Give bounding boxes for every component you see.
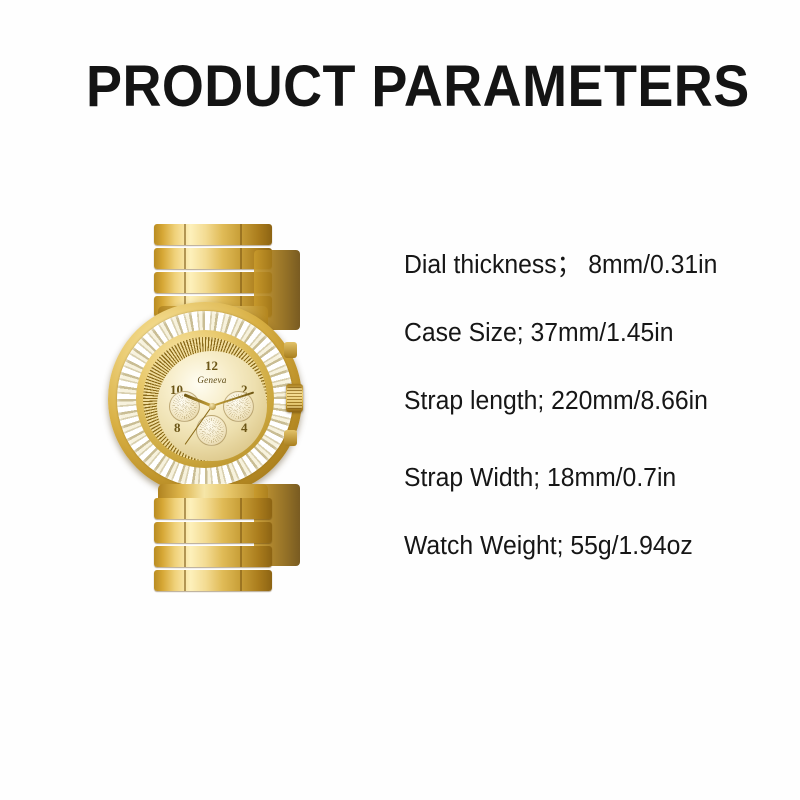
- product-parameters-page: PRODUCT PARAMETERS Geneva 12 2: [0, 0, 800, 800]
- spec-row-watch-weight: Watch Weight; 55g/1.94oz: [404, 531, 763, 561]
- watch-hand-cap: [209, 403, 216, 410]
- spec-row-case-size: Case Size; 37mm/1.45in: [404, 318, 763, 348]
- watch-chapter-ring: Geneva 12 2 4 8 10: [143, 337, 267, 461]
- watch-pusher-top: [284, 342, 297, 358]
- spec-row-dial-thickness: Dial thickness； 8mm/0.31in: [404, 250, 763, 280]
- watch-bezel-crystals: Geneva 12 2 4 8 10: [117, 311, 293, 487]
- watch-bezel-inner: Geneva 12 2 4 8 10: [136, 330, 274, 468]
- watch-case: Geneva 12 2 4 8 10: [108, 302, 302, 496]
- spec-row-strap-width: Strap Width; 18mm/0.7in: [404, 463, 763, 493]
- product-watch-image: Geneva 12 2 4 8 10: [104, 222, 316, 594]
- spec-row-strap-length: Strap length; 220mm/8.66in: [404, 386, 763, 416]
- bracelet-link: [154, 498, 272, 519]
- watch-pusher-bottom: [284, 430, 297, 446]
- watch-crown: [286, 384, 303, 412]
- page-title: PRODUCT PARAMETERS: [86, 56, 681, 118]
- bracelet-link: [154, 546, 272, 567]
- bracelet-link: [154, 570, 272, 591]
- specification-list: Dial thickness； 8mm/0.31in Case Size; 37…: [404, 250, 774, 561]
- bracelet-link: [154, 522, 272, 543]
- dial-numeral-12: 12: [205, 359, 218, 372]
- watch-dial: Geneva 12 2 4 8 10: [157, 351, 267, 461]
- watch-bracelet-lower: [154, 498, 272, 594]
- dial-numeral-4: 4: [241, 421, 248, 434]
- dial-numeral-8: 8: [174, 421, 181, 434]
- bracelet-link: [154, 224, 272, 245]
- dial-brand-label: Geneva: [188, 375, 236, 385]
